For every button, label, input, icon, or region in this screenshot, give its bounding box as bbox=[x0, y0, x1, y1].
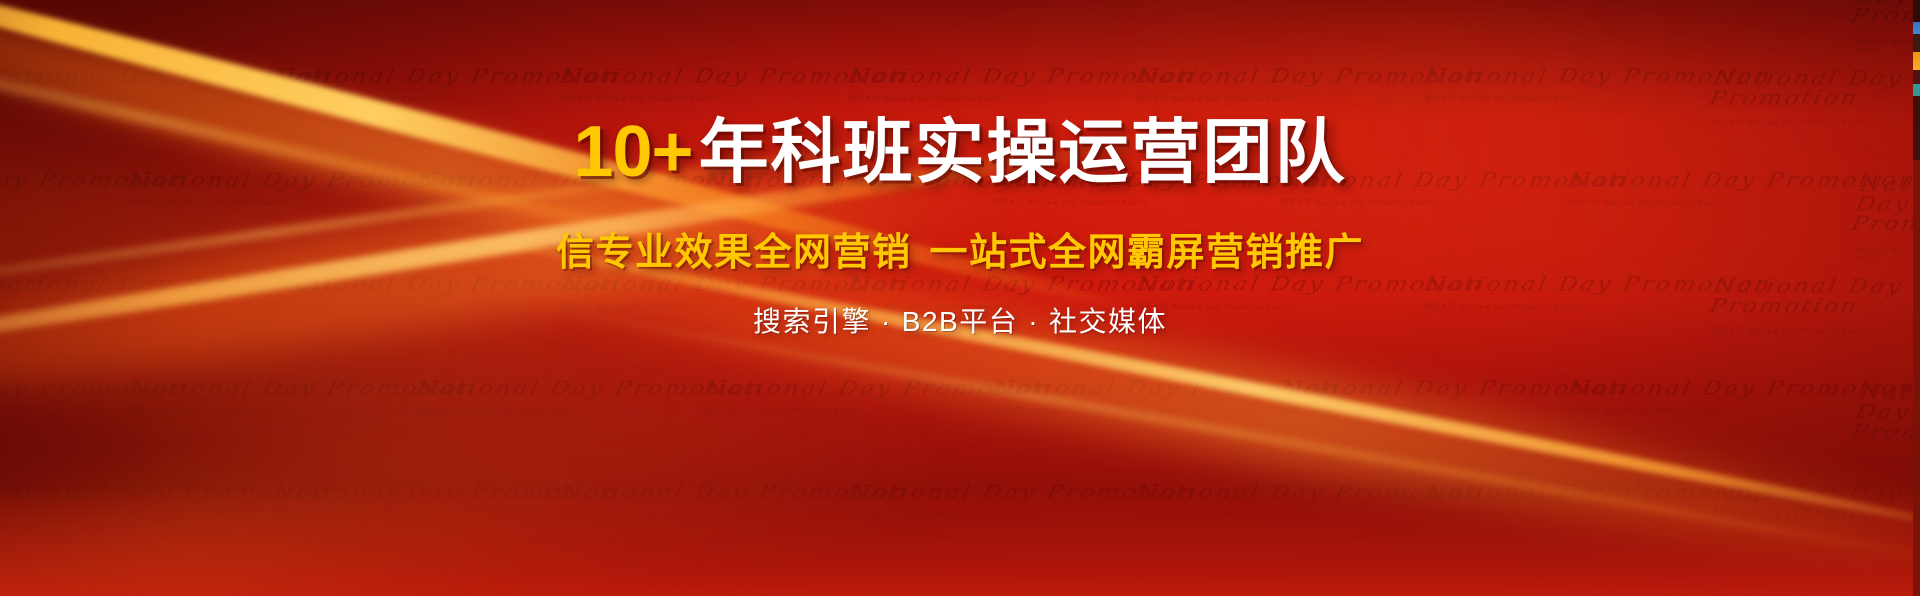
tertiary-item-b2b-platform: B2B平台 bbox=[902, 306, 1018, 337]
banner-headline: 10+ 年科班实操运营团队 bbox=[573, 96, 1346, 197]
tertiary-separator-2: · bbox=[1028, 306, 1039, 337]
tertiary-item-social-media: 社交媒体 bbox=[1049, 306, 1167, 337]
banner-subtitle: 信专业效果全网营销一站式全网霸屏营销推广 bbox=[556, 221, 1364, 276]
promo-banner[interactable]: National Day Promotion国庆大促 National Day … bbox=[0, 0, 1920, 596]
headline-text: 年科班实操运营团队 bbox=[699, 96, 1347, 197]
tertiary-item-search-engine: 搜索引擎 bbox=[753, 306, 871, 337]
subtitle-part-2: 一站式全网霸屏营销推广 bbox=[930, 232, 1365, 274]
subtitle-part-1: 信专业效果全网营销 bbox=[556, 232, 912, 274]
tertiary-separator-1: · bbox=[881, 306, 892, 337]
headline-number: 10+ bbox=[573, 111, 692, 193]
banner-tertiary-line: 搜索引擎·B2B平台·社交媒体 bbox=[753, 300, 1167, 340]
banner-content: 10+ 年科班实操运营团队 信专业效果全网营销一站式全网霸屏营销推广 搜索引擎·… bbox=[0, 0, 1920, 596]
adjacent-image-edge-sliver bbox=[1913, 0, 1920, 596]
